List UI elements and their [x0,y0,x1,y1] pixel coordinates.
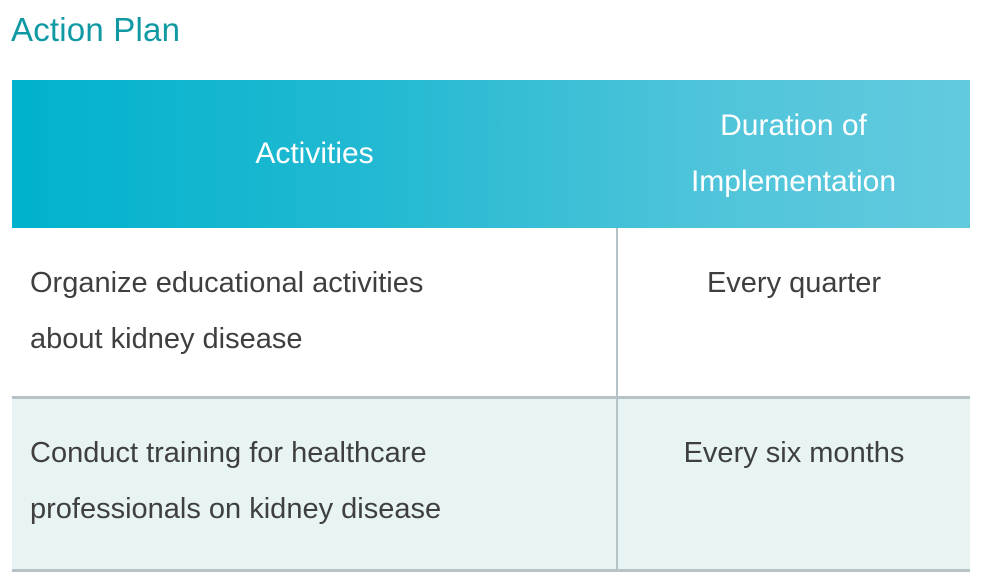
slide-canvas: Action Plan Activities Duration of [0,0,982,583]
table-header: Activities Duration of Implementation [12,80,970,228]
table-body: Organize educational activities about ki… [12,228,970,571]
table-row: Conduct training for healthcare professi… [12,398,970,571]
column-header-duration: Duration of Implementation [617,80,970,228]
cell-activities-row-2-line-1: Conduct training for healthcare [30,425,600,481]
page-title: Action Plan [11,8,180,52]
cell-activities-row-2: Conduct training for healthcare professi… [12,398,617,571]
table-bottom-rule [12,569,970,572]
cell-duration-row-1: Every quarter [617,228,970,398]
cell-activities-row-2-line-2: professionals on kidney disease [30,481,600,537]
cell-activities-row-1: Organize educational activities about ki… [12,228,617,398]
column-header-duration-line-1: Duration of [627,98,960,154]
cell-activities-row-1-line-2: about kidney disease [30,311,600,367]
table-header-row: Activities Duration of Implementation [12,80,970,228]
cell-activities-row-1-line-1: Organize educational activities [30,255,600,311]
column-header-activities-line-1: Activities [22,126,607,182]
column-header-activities: Activities [12,80,617,228]
cell-duration-row-2: Every six months [617,398,970,571]
row-divider-rule [12,396,970,399]
table-row: Organize educational activities about ki… [12,228,970,398]
column-header-duration-line-2: Implementation [627,154,960,210]
action-plan-table: Activities Duration of Implementation Or… [12,80,970,571]
action-plan-table-container: Activities Duration of Implementation Or… [12,80,970,571]
